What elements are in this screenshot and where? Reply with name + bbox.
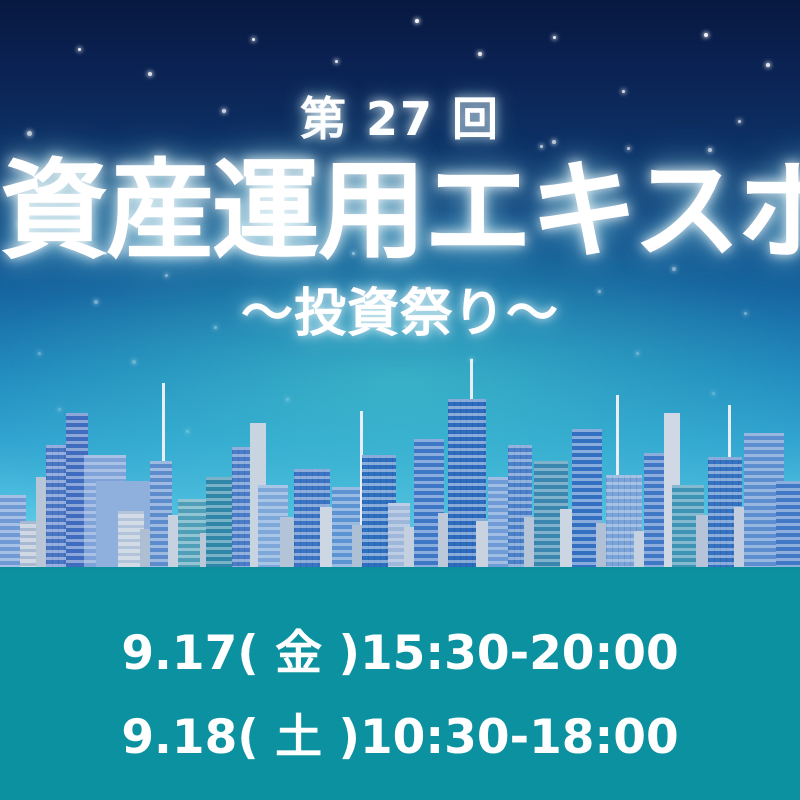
star-sparkle — [148, 72, 152, 76]
star-sparkle — [38, 352, 41, 355]
subtitle: 〜投資祭り〜 — [0, 288, 800, 340]
event-poster: 第 27 回 資産運用エキスポ 〜投資祭り〜 9.17( 金 )15:30-20… — [0, 0, 800, 800]
star-sparkle — [78, 48, 81, 51]
edition-label: 第 27 回 — [0, 96, 800, 142]
city-skyline — [0, 373, 800, 573]
star-sparkle — [540, 145, 543, 148]
star-sparkle — [553, 36, 556, 39]
page-title: 資産運用エキスポ — [0, 155, 800, 268]
star-sparkle — [335, 60, 338, 63]
star-sparkle — [132, 360, 136, 364]
schedule-row: 9.18( 土 )10:30-18:00 — [0, 696, 800, 780]
star-sparkle — [766, 63, 770, 67]
star-sparkle — [415, 19, 419, 23]
building — [776, 481, 800, 573]
star-sparkle — [622, 90, 625, 93]
schedule-row: 9.17( 金 )15:30-20:00 — [0, 612, 800, 696]
star-sparkle — [478, 52, 482, 56]
star-sparkle — [704, 33, 708, 37]
star-sparkle — [252, 38, 255, 41]
star-sparkle — [165, 274, 168, 277]
star-sparkle — [636, 352, 639, 355]
schedule-list: 9.17( 金 )15:30-20:009.18( 土 )10:30-18:00 — [0, 612, 800, 779]
